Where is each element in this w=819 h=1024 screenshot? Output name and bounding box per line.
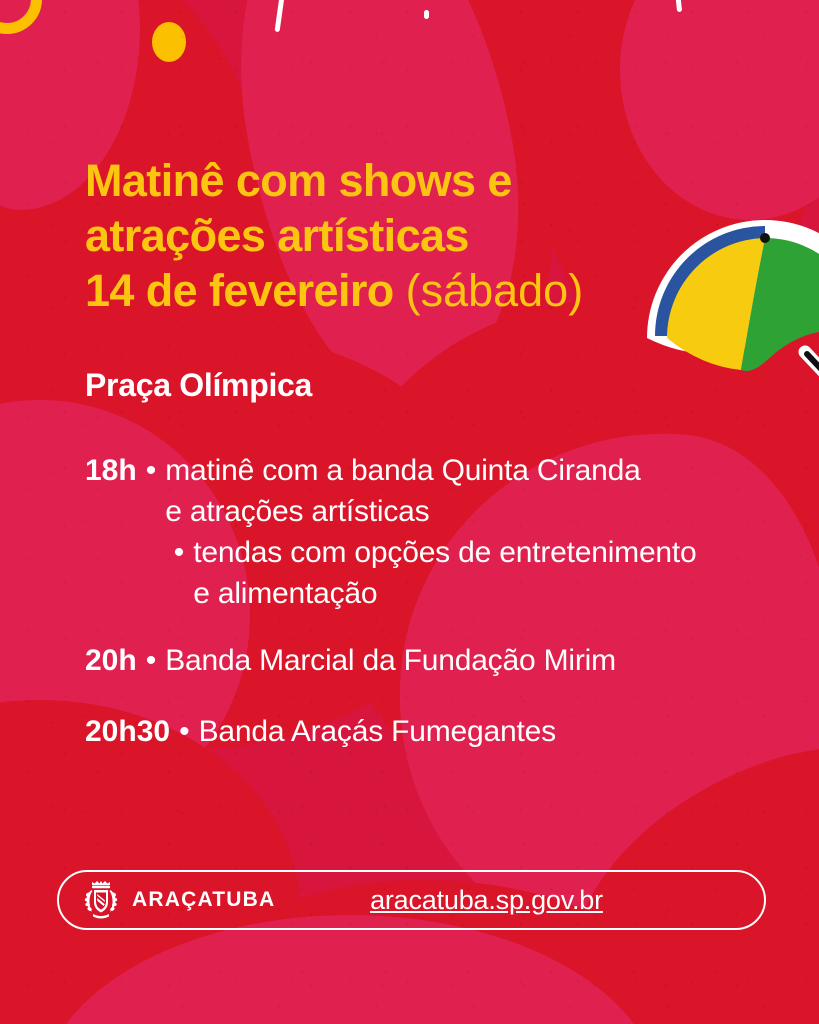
schedule-item-text: matinê com a banda Quinta Cirandae atraç…: [165, 450, 640, 532]
bullet-icon: •: [137, 450, 166, 491]
schedule-row: 20h30 • Banda Araçás Fumegantes: [85, 711, 775, 752]
schedule-time: 20h30: [85, 711, 170, 752]
page-title: Matinê com shows e atrações artísticas 1…: [85, 153, 705, 318]
title-weekday: (sábado): [406, 265, 584, 316]
bullet-icon: •: [137, 640, 166, 681]
footer-bar: ARAÇATUBA aracatuba.sp.gov.br: [57, 870, 766, 930]
bullet-icon: •: [165, 532, 194, 573]
schedule-time: 18h: [85, 450, 137, 491]
schedule-row: 20h • Banda Marcial da Fundação Mirim: [85, 640, 775, 681]
schedule-items: • matinê com a banda Quinta Cirandae atr…: [137, 450, 775, 614]
schedule-list: 18h • matinê com a banda Quinta Cirandae…: [85, 450, 775, 758]
schedule-items: • Banda Araçás Fumegantes: [170, 711, 775, 752]
schedule-item-text: tendas com opções de entretenimentoe ali…: [193, 532, 696, 614]
schedule-time: 20h: [85, 640, 137, 681]
list-item: • Banda Marcial da Fundação Mirim: [137, 640, 775, 681]
poster-content: Matinê com shows e atrações artísticas 1…: [0, 0, 819, 1024]
list-item: • matinê com a banda Quinta Cirandae atr…: [137, 450, 775, 532]
title-date: 14 de fevereiro: [85, 265, 394, 316]
coat-of-arms-icon: [81, 878, 121, 922]
list-item: • Banda Araçás Fumegantes: [170, 711, 775, 752]
list-item: • tendas com opções de entretenimentoe a…: [165, 532, 775, 614]
title-line-1: Matinê com shows e: [85, 155, 512, 206]
venue-name: Praça Olímpica: [85, 367, 312, 404]
schedule-row: 18h • matinê com a banda Quinta Cirandae…: [85, 450, 775, 614]
bullet-icon: •: [170, 711, 199, 752]
schedule-item-text: Banda Marcial da Fundação Mirim: [165, 640, 616, 681]
schedule-items: • Banda Marcial da Fundação Mirim: [137, 640, 775, 681]
schedule-item-text: Banda Araçás Fumegantes: [199, 711, 556, 752]
website-link[interactable]: aracatuba.sp.gov.br: [209, 885, 764, 916]
title-line-2: atrações artísticas: [85, 210, 469, 261]
poster-canvas: Matinê com shows e atrações artísticas 1…: [0, 0, 819, 1024]
